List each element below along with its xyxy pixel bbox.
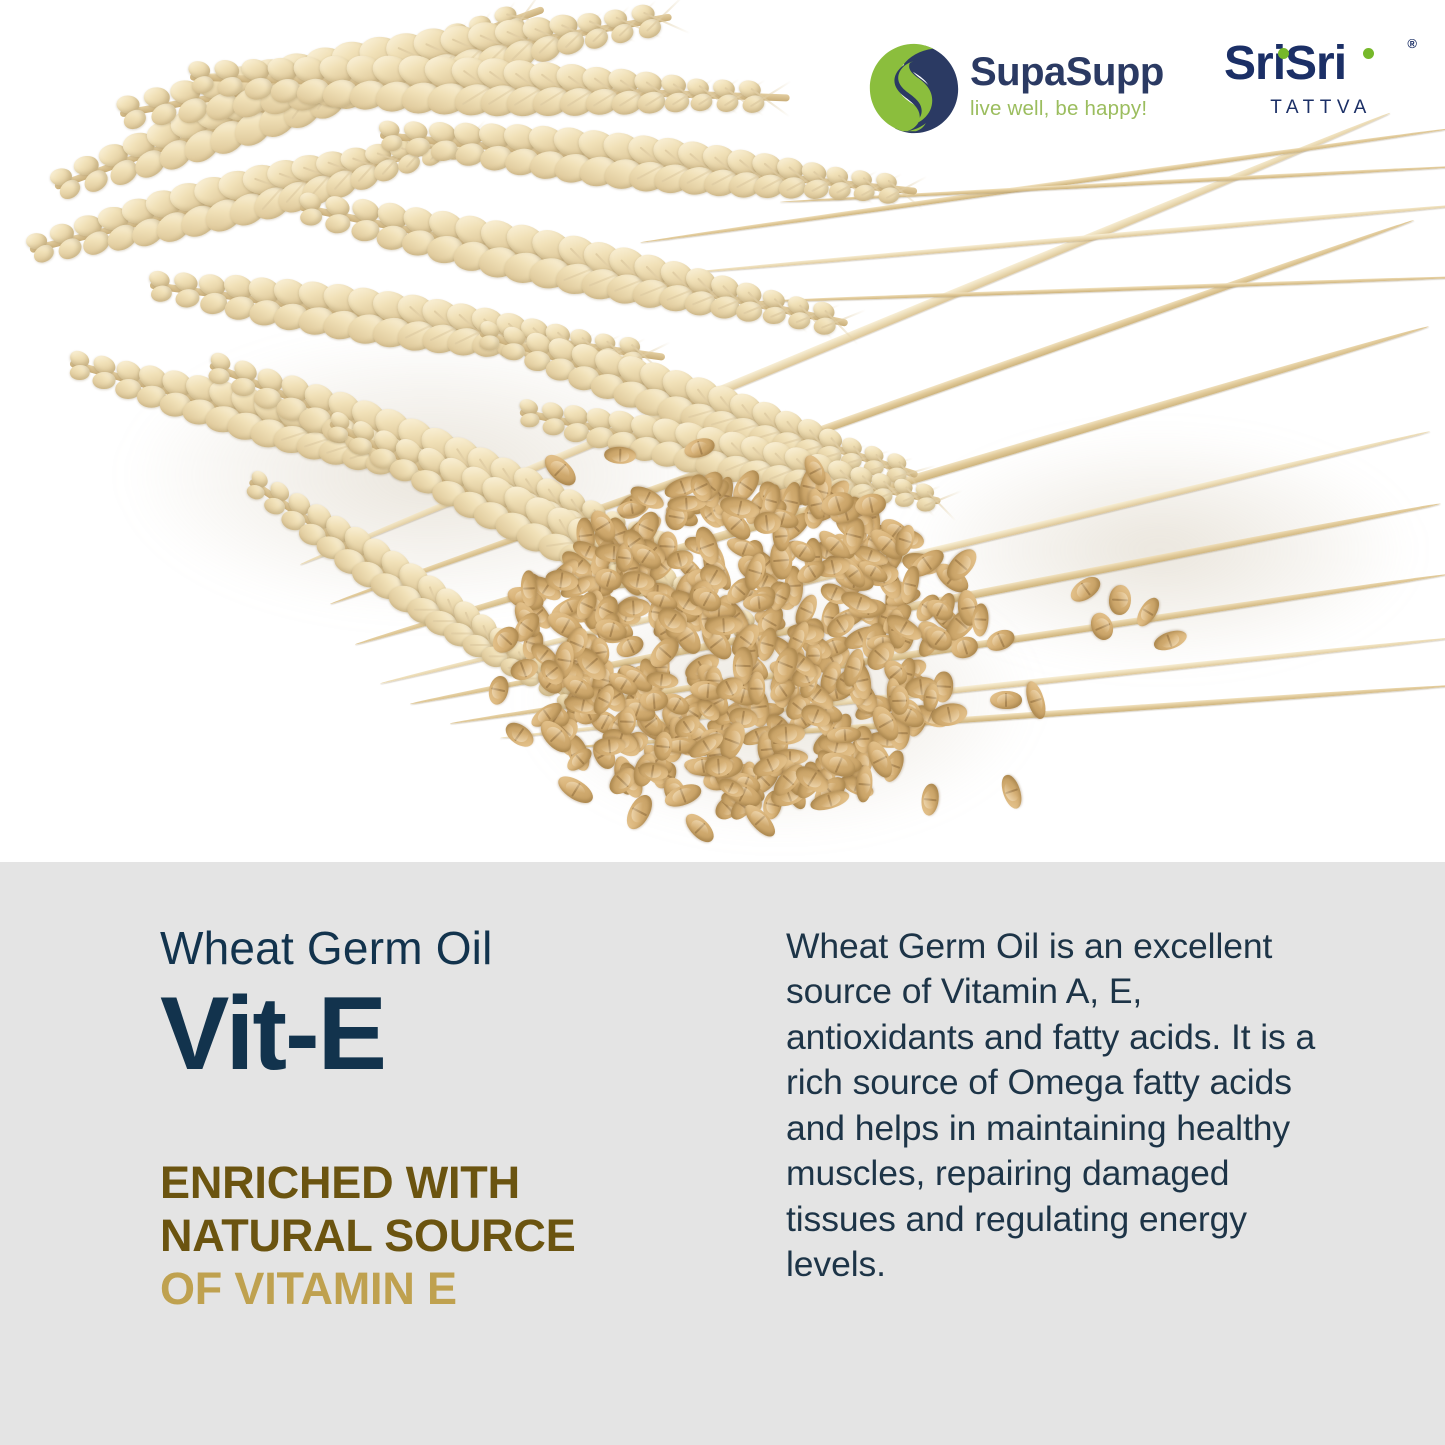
registered-trademark-icon: ® <box>1407 37 1416 50</box>
product-info-panel: Wheat Germ Oil Vit-E ENRICHED WITHNATURA… <box>0 862 1445 1445</box>
kernel-crease <box>724 737 740 745</box>
kernel-crease <box>775 593 786 600</box>
kernel-crease <box>739 482 752 492</box>
kernel-crease <box>783 775 795 785</box>
kernel-crease <box>799 607 812 614</box>
description-column: Wheat Germ Oil is an excellent source of… <box>786 924 1326 1288</box>
kernel-crease <box>585 657 598 669</box>
kernel-crease <box>1005 789 1018 795</box>
wheat-spikelet <box>208 367 230 385</box>
kernel-crease <box>792 636 803 643</box>
kernel-crease <box>766 759 774 772</box>
kernel-crease <box>1142 608 1153 616</box>
kernel-crease <box>581 602 594 609</box>
wheat-spikelet <box>350 219 379 242</box>
sri-word-one: Sri <box>1224 37 1285 90</box>
kernel-crease <box>626 640 634 654</box>
product-infographic: SupaSupp live well, be happy! SriSri ® T… <box>0 0 1445 1445</box>
kernel-crease <box>867 549 873 560</box>
kernel-crease <box>859 782 871 785</box>
kernel-crease <box>542 710 550 721</box>
kernel-crease <box>575 754 584 764</box>
supasupp-tagline: live well, be happy! <box>970 99 1164 120</box>
product-kicker: Wheat Germ Oil <box>160 924 760 972</box>
kernel-crease <box>900 621 908 633</box>
kernel-crease <box>808 655 820 657</box>
scattered-kernel <box>998 772 1026 811</box>
wheat-spikelet <box>501 343 525 361</box>
supasupp-swirl-icon <box>866 40 962 136</box>
kernel-crease <box>717 758 720 774</box>
kernel-crease <box>873 756 887 764</box>
kernel-crease <box>679 740 681 751</box>
kernel-crease <box>557 658 571 662</box>
kernel-crease <box>685 498 688 510</box>
kernel-crease <box>596 521 610 531</box>
kernel-crease <box>847 665 860 671</box>
kernel-crease <box>680 480 687 493</box>
kernel-crease <box>581 699 585 712</box>
kernel-crease <box>722 618 725 633</box>
kernel-crease <box>1095 622 1110 630</box>
kernel-crease <box>778 685 787 697</box>
kernel-crease <box>760 775 771 786</box>
kernel-crease <box>638 524 653 532</box>
kernel-crease <box>710 637 724 649</box>
kernel-crease <box>667 613 678 627</box>
scattered-kernel <box>990 691 1022 709</box>
kernel-crease <box>677 553 682 566</box>
kernel-crease <box>559 573 563 589</box>
logo-bar: SupaSupp live well, be happy! SriSri ® T… <box>0 0 1445 160</box>
kernel-crease <box>919 680 923 696</box>
promo-line-2: NATURAL SOURCE <box>160 1209 760 1262</box>
kernel-crease <box>618 556 631 559</box>
promo-line-1: ENRICHED WITH <box>160 1156 760 1209</box>
kernel-crease <box>835 757 843 773</box>
promo-tagline: ENRICHED WITHNATURAL SOURCEOF VITAMIN E <box>160 1156 760 1315</box>
kernel-crease <box>633 807 648 816</box>
kernel-crease <box>554 464 566 477</box>
product-description: Wheat Germ Oil is an excellent source of… <box>786 924 1326 1288</box>
kernel-crease <box>585 546 592 557</box>
sri-word-two: Sri <box>1285 37 1346 90</box>
kernel-crease <box>830 540 840 551</box>
kernel-crease <box>727 782 734 793</box>
kernel-crease <box>936 604 944 617</box>
kernel-crease <box>843 729 846 741</box>
kernel-crease <box>579 534 593 538</box>
kernel-crease <box>784 499 798 504</box>
kernel-crease <box>811 708 819 723</box>
kernel-crease <box>635 574 639 588</box>
kernel-crease <box>765 515 769 532</box>
kernel-crease <box>660 674 663 686</box>
kernel-crease <box>830 587 838 600</box>
kernel-crease <box>499 633 512 646</box>
kernel-crease <box>904 582 916 587</box>
kernel-crease <box>702 741 710 752</box>
kernel-crease <box>848 569 859 578</box>
kernel-crease <box>832 640 839 654</box>
kernel-crease <box>491 687 505 692</box>
wheat-spikelet <box>325 213 351 234</box>
kernel-crease <box>1005 693 1007 707</box>
kernel-crease <box>694 484 708 492</box>
kernel-crease <box>946 707 951 724</box>
kernel-crease <box>836 619 846 632</box>
kernel-crease <box>616 775 628 787</box>
kernel-crease <box>523 586 536 588</box>
kernel-crease <box>997 633 1005 647</box>
kernel-crease <box>775 535 788 538</box>
srisri-wordmark: SriSri ® <box>1224 40 1414 88</box>
kernel-crease <box>762 617 777 627</box>
wheat-spikelet <box>520 412 540 428</box>
wheat-spikelet <box>563 422 589 442</box>
kernel-crease <box>799 546 808 557</box>
kernel-crease <box>707 683 710 698</box>
wheat-spikelet <box>92 372 115 389</box>
kernel-crease <box>520 622 533 632</box>
kernel-crease <box>561 618 570 633</box>
kernel-crease <box>923 798 936 801</box>
scattered-kernel <box>604 446 637 464</box>
kernel-crease <box>856 596 862 609</box>
kernel-crease <box>809 467 821 475</box>
wheat-spikelet <box>150 284 173 303</box>
kernel-crease <box>737 500 742 515</box>
kernel-crease <box>566 601 573 613</box>
kernel-crease <box>933 632 944 646</box>
kernel-crease <box>835 496 842 512</box>
kernel-crease <box>659 595 665 607</box>
wheat-spikelet <box>70 365 90 380</box>
supasupp-wordmark: SupaSupp live well, be happy! <box>970 52 1164 120</box>
kernel-crease <box>653 692 656 708</box>
kernel-crease <box>608 622 614 637</box>
kernel-crease <box>925 697 937 700</box>
kernel-crease <box>1112 599 1129 602</box>
kernel-crease <box>1167 634 1173 647</box>
kernel-crease <box>618 449 620 462</box>
kernel-crease <box>1080 583 1090 596</box>
kernel-crease <box>731 519 743 531</box>
kernel-crease <box>893 699 907 701</box>
kernel-crease <box>660 545 675 548</box>
kernel-crease <box>874 650 887 662</box>
kernel-crease <box>632 601 635 616</box>
supasupp-name: SupaSupp <box>970 52 1164 92</box>
kernel-crease <box>749 570 763 576</box>
sri-dot-one-icon <box>1278 48 1289 59</box>
kernel-crease <box>1030 697 1042 703</box>
kernel-crease <box>777 661 792 669</box>
kernel-crease <box>550 730 563 742</box>
kernel-crease <box>878 719 893 728</box>
kernel-crease <box>630 503 634 515</box>
kernel-crease <box>755 815 766 825</box>
kernel-crease <box>962 640 969 656</box>
promo-line-3: OF VITAMIN E <box>160 1262 760 1315</box>
kernel-crease <box>750 705 766 709</box>
kernel-crease <box>642 550 652 563</box>
product-photo-panel: SupaSupp live well, be happy! SriSri ® T… <box>0 0 1445 862</box>
kernel-crease <box>847 532 862 538</box>
kernel-crease <box>571 783 580 796</box>
kernel-crease <box>545 667 557 678</box>
srisri-tattva-sub: TATTVA <box>1224 97 1414 119</box>
kernel-crease <box>922 556 932 569</box>
kernel-crease <box>831 560 836 574</box>
kernel-crease <box>515 728 525 741</box>
kernel-crease <box>657 647 670 659</box>
kernel-crease <box>882 538 893 550</box>
kernel-crease <box>827 794 832 807</box>
kernel-crease <box>695 823 706 834</box>
kernel-crease <box>651 765 655 778</box>
kernel-crease <box>682 721 692 734</box>
kernel-crease <box>520 662 527 677</box>
kernel-crease <box>974 618 986 621</box>
kernel-crease <box>757 595 760 608</box>
srisri-tattva-logo[interactable]: SriSri ® TATTVA <box>1224 40 1414 140</box>
kernel-crease <box>703 592 712 607</box>
kernel-crease <box>774 558 790 561</box>
kernel-crease <box>672 698 681 711</box>
kernel-crease <box>751 688 764 690</box>
supasupp-logo[interactable]: SupaSupp live well, be happy! <box>866 38 1186 140</box>
kernel-crease <box>612 546 615 560</box>
kernel-crease <box>621 720 634 722</box>
kernel-crease <box>680 788 687 802</box>
kernel-crease <box>668 515 685 520</box>
kernel-crease <box>724 681 733 696</box>
kernel-crease <box>735 665 750 668</box>
kernel-crease <box>734 585 745 595</box>
kernel-crease <box>741 542 748 555</box>
kernel-crease <box>620 679 628 691</box>
wheat-spikelet <box>479 335 499 351</box>
kernel-crease <box>608 740 611 754</box>
kernel-crease <box>765 498 777 503</box>
kernel-crease <box>955 559 969 571</box>
kernel-crease <box>785 727 788 743</box>
kernel-crease <box>890 667 903 678</box>
kernel-crease <box>574 681 583 694</box>
wheat-spikelet <box>300 208 323 226</box>
kernel-crease <box>657 745 671 748</box>
sri-dot-two-icon <box>1363 48 1374 59</box>
kernel-crease <box>740 635 752 645</box>
kernel-crease <box>598 697 609 704</box>
kernel-crease <box>898 537 911 543</box>
kernel-crease <box>700 543 715 550</box>
kernel-crease <box>869 567 877 578</box>
kernel-crease <box>703 705 713 715</box>
kernel-crease <box>868 497 873 514</box>
kernel-crease <box>644 491 652 504</box>
kernel-crease <box>797 657 806 668</box>
headline-column: Wheat Germ Oil Vit-E ENRICHED WITHNATURA… <box>160 924 760 1316</box>
kernel-crease <box>697 441 703 455</box>
kernel-crease <box>606 572 612 588</box>
product-headline: Vit-E <box>160 982 760 1086</box>
kernel-crease <box>807 565 816 578</box>
kernel-crease <box>807 772 817 786</box>
kernel-crease <box>760 641 773 646</box>
